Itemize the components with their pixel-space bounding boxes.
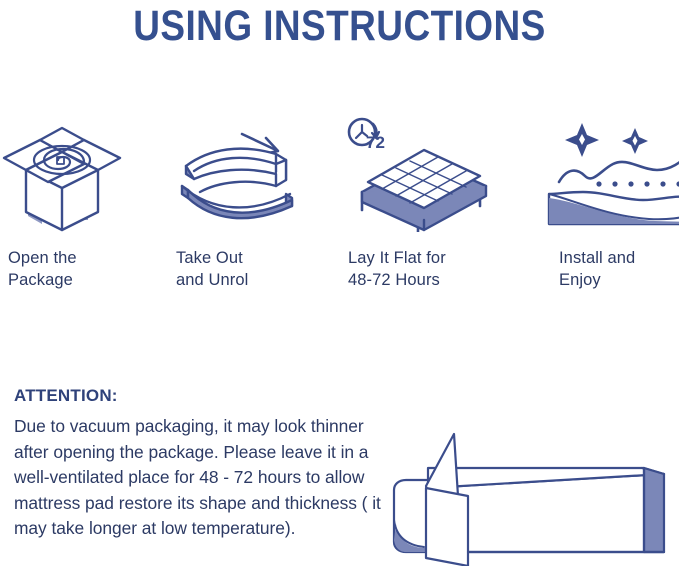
unrolling-mattress-with-arrow-icon: [168, 108, 338, 232]
open-box-with-rolled-mattress-icon: [0, 108, 170, 232]
step-install-and-enjoy: Install and Enjoy: [545, 108, 679, 308]
step-caption: Lay It Flat for 48-72 Hours: [348, 248, 446, 292]
attention-body-text: Due to vacuum packaging, it may look thi…: [14, 414, 394, 542]
step-open-the-package: Open the Package: [0, 108, 170, 308]
long-open-box-with-mattress-roll-icon: [392, 424, 679, 566]
step-lay-it-flat: 72: [340, 108, 510, 308]
steps-row: Open the Package Take Out: [0, 108, 679, 308]
step-caption: Take Out and Unrol: [176, 248, 248, 292]
flat-mattress-on-frame-with-clock-icon: 72: [340, 108, 510, 232]
step-caption: Install and Enjoy: [559, 248, 635, 292]
mattress-with-sparkles-icon: [545, 108, 679, 232]
attention-heading: ATTENTION:: [14, 386, 118, 406]
clock-hours-label: 72: [366, 133, 385, 152]
step-caption: Open the Package: [8, 248, 77, 292]
page-title: USING INSTRUCTIONS: [48, 2, 632, 51]
sparkle-icon: [565, 123, 599, 157]
step-take-out-and-unrol: Take Out and Unrol: [168, 108, 338, 308]
sparkle-icon: [622, 128, 648, 154]
